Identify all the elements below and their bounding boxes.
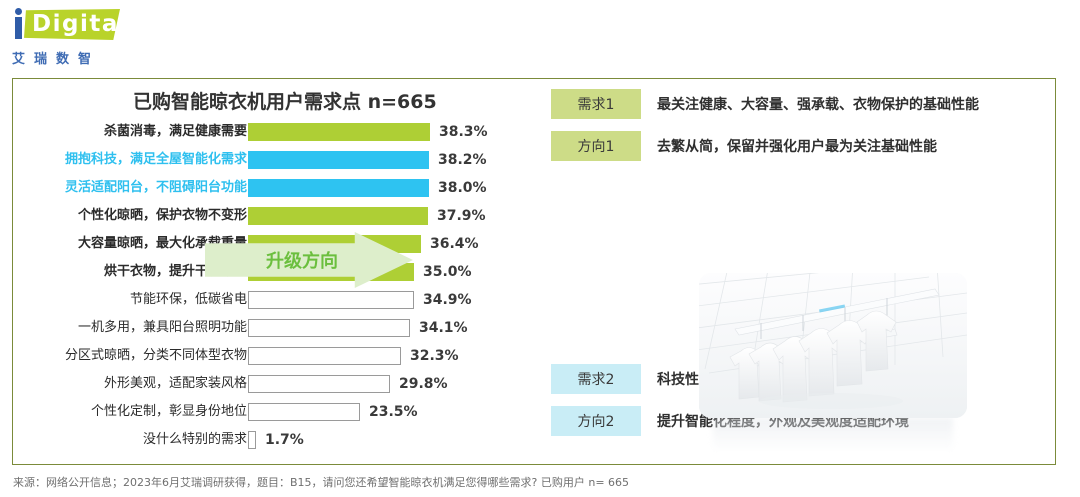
chart-row: 个性化晾晒，保护衣物不变形37.9% <box>13 202 513 230</box>
callout-text-direction-1: 去繁从简，保留并强化用户最为关注基础性能 <box>657 136 937 156</box>
logo-mark: Digital <box>10 8 122 42</box>
slide-root: Digital 艾瑞数智 已购智能晾衣机用户需求点 n=665 杀菌消毒，满足健… <box>0 0 1080 497</box>
chart-row-value: 34.1% <box>419 314 468 342</box>
logo-chinese-name: 艾瑞数智 <box>12 48 100 67</box>
chart-row-value: 38.2% <box>438 146 487 174</box>
chart-bar <box>248 291 414 309</box>
chart-row-value: 34.9% <box>423 286 472 314</box>
callout-tag-direction-2: 方向2 <box>551 406 641 436</box>
chart-bar <box>248 375 390 393</box>
callout-tag-demand-2: 需求2 <box>551 364 641 394</box>
chart-row-label: 拥抱科技，满足全屋智能化需求 <box>65 146 247 174</box>
callout-tag-direction-1: 方向1 <box>551 131 641 161</box>
chart-row-label: 外形美观，适配家装风格 <box>104 370 247 398</box>
callout-direction-1: 方向1 去繁从简，保留并强化用户最为关注基础性能 <box>551 131 937 161</box>
chart-bar <box>248 431 256 449</box>
chart-row-label: 分区式晾晒，分类不同体型衣物 <box>65 342 247 370</box>
drying-rack-photo <box>699 273 967 418</box>
chart-row-value: 37.9% <box>437 202 486 230</box>
chart-row-label: 一机多用，兼具阳台照明功能 <box>78 314 247 342</box>
chart-bar <box>248 319 410 337</box>
chart-row-label: 灵活适配阳台，不阻碍阳台功能 <box>65 174 247 202</box>
chart-bar <box>248 123 430 141</box>
logo-wordmark: Digital <box>32 11 128 38</box>
chart-row-label: 杀菌消毒，满足健康需要 <box>104 118 247 146</box>
chart-row-value: 23.5% <box>369 398 418 426</box>
chart-bar <box>248 207 428 225</box>
chart-row: 灵活适配阳台，不阻碍阳台功能38.0% <box>13 174 513 202</box>
chart-row-label: 节能环保，低碳省电 <box>130 286 247 314</box>
callout-text-demand-1: 最关注健康、大容量、强承载、衣物保护的基础性能 <box>657 94 979 114</box>
chart-row-label: 没什么特别的需求 <box>143 426 247 454</box>
brand-logo: Digital 艾瑞数智 <box>10 8 210 70</box>
content-frame: 已购智能晾衣机用户需求点 n=665 杀菌消毒，满足健康需要38.3%拥抱科技，… <box>12 78 1056 465</box>
chart-row-label: 个性化定制，彰显身份地位 <box>91 398 247 426</box>
chart-row-value: 35.0% <box>423 258 472 286</box>
chart-row-value: 29.8% <box>399 370 448 398</box>
chart-bar <box>248 179 429 197</box>
chart-title: 已购智能晾衣机用户需求点 n=665 <box>133 87 437 114</box>
chart-row-value: 36.4% <box>430 230 479 258</box>
logo-i-stem-icon <box>15 17 22 39</box>
chart-row: 没什么特别的需求1.7% <box>13 426 513 454</box>
logo-i-dot-icon <box>15 8 22 15</box>
chart-row: 个性化定制，彰显身份地位23.5% <box>13 398 513 426</box>
drying-rack-illustration <box>699 273 967 418</box>
chart-bar <box>248 151 429 169</box>
chart-row: 一机多用，兼具阳台照明功能34.1% <box>13 314 513 342</box>
upgrade-direction-arrow: 升级方向 <box>205 232 413 288</box>
chart-row: 拥抱科技，满足全屋智能化需求38.2% <box>13 146 513 174</box>
chart-row: 外形美观，适配家装风格29.8% <box>13 370 513 398</box>
source-footnote: 来源：网络公开信息；2023年6月艾瑞调研获得，题目：B15，请问您还希望智能晾… <box>13 474 629 490</box>
chart-row-value: 32.3% <box>410 342 459 370</box>
chart-bar <box>248 347 401 365</box>
chart-row: 分区式晾晒，分类不同体型衣物32.3% <box>13 342 513 370</box>
chart-row-value: 38.0% <box>438 174 487 202</box>
chart-row-value: 1.7% <box>265 426 304 454</box>
chart-bar <box>248 403 360 421</box>
arrow-label: 升级方向 <box>247 232 357 288</box>
callout-tag-demand-1: 需求1 <box>551 89 641 119</box>
chart-row-label: 个性化晾晒，保护衣物不变形 <box>78 202 247 230</box>
chart-row: 杀菌消毒，满足健康需要38.3% <box>13 118 513 146</box>
photo-reflection <box>713 418 953 452</box>
chart-row-value: 38.3% <box>439 118 488 146</box>
chart-row: 节能环保，低碳省电34.9% <box>13 286 513 314</box>
callout-demand-1: 需求1 最关注健康、大容量、强承载、衣物保护的基础性能 <box>551 89 979 119</box>
